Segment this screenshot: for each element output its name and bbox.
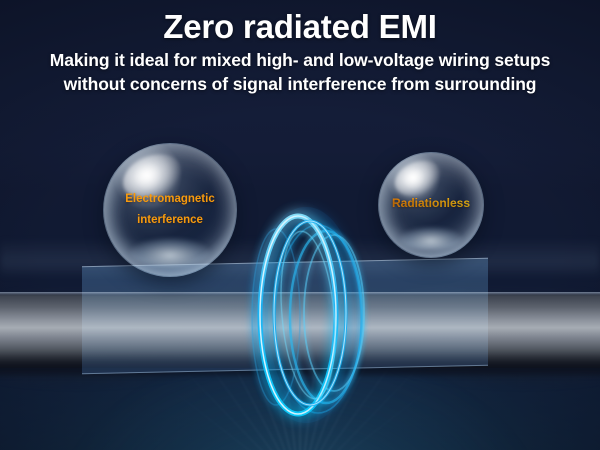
emi-infographic-banner: Zero radiated EMI Making it ideal for mi… <box>0 0 600 450</box>
bubble-left-label-line-1: Electromagnetic <box>110 189 230 210</box>
bubble-left-label-line-2: interference <box>110 210 230 231</box>
subtitle-line-2: without concerns of signal interference … <box>20 73 580 97</box>
page-title: Zero radiated EMI <box>0 0 600 46</box>
ring-svg <box>248 205 378 427</box>
bubble-left-label: Electromagnetic interference <box>104 189 236 232</box>
subtitle-line-1: Making it ideal for mixed high- and low-… <box>20 49 580 73</box>
page-subtitle: Making it ideal for mixed high- and low-… <box>20 49 580 96</box>
glowing-energy-ring <box>248 205 378 427</box>
heading-block: Zero radiated EMI Making it ideal for mi… <box>0 0 600 96</box>
bubble-right-label: Radiationless <box>379 196 483 210</box>
bubble-radiationless: Radiationless <box>378 152 484 258</box>
bubble-electromagnetic-interference: Electromagnetic interference <box>103 143 237 277</box>
